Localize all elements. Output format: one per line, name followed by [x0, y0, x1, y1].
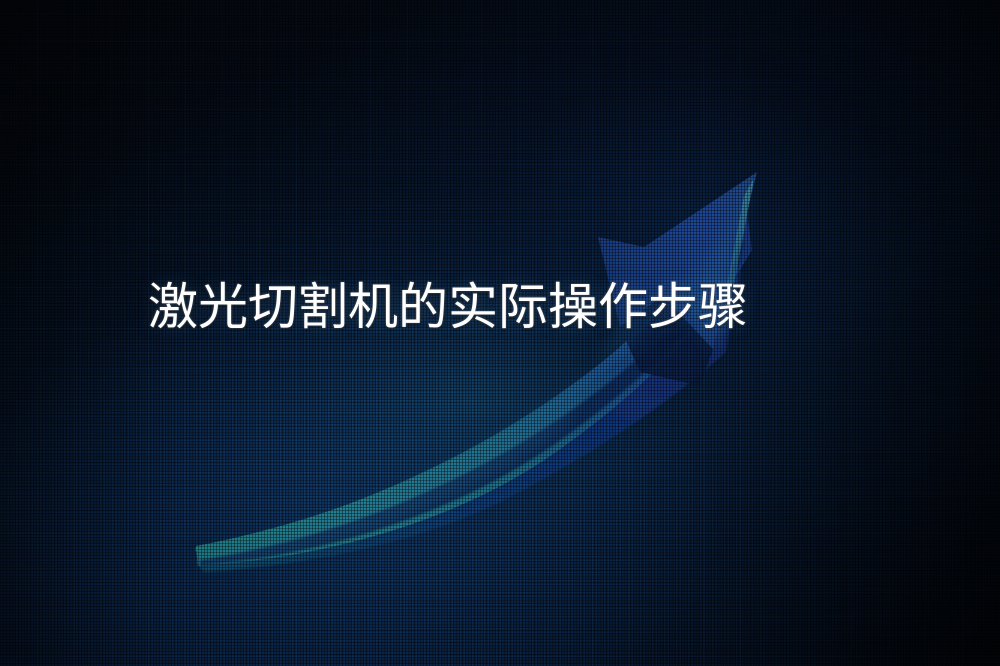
title-container: 激光切割机的实际操作步骤: [148, 279, 848, 335]
page-title: 激光切割机的实际操作步骤: [148, 279, 848, 335]
banner-slide: 激光切割机的实际操作步骤: [0, 0, 1000, 666]
